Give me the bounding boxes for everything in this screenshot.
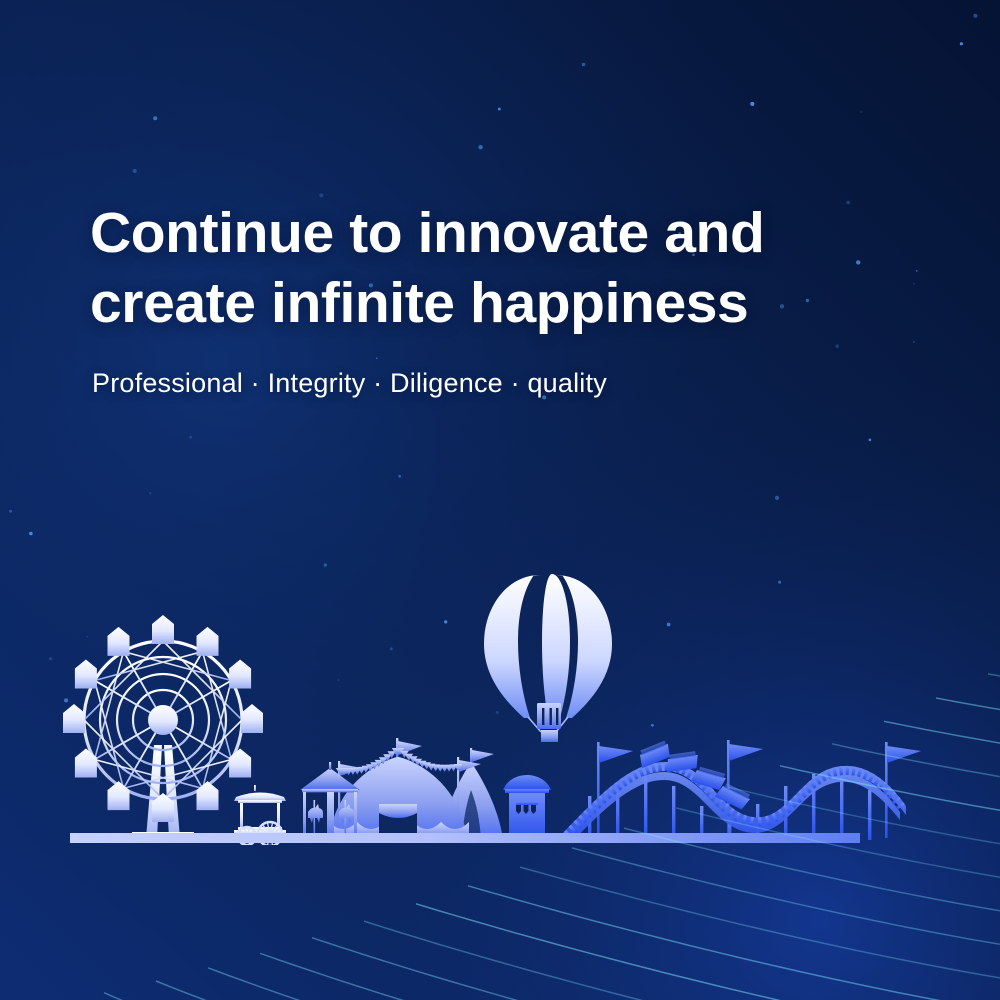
glowing-wave-mesh <box>0 0 1000 1000</box>
banner-canvas: Continue to innovate and create infinite… <box>0 0 1000 1000</box>
